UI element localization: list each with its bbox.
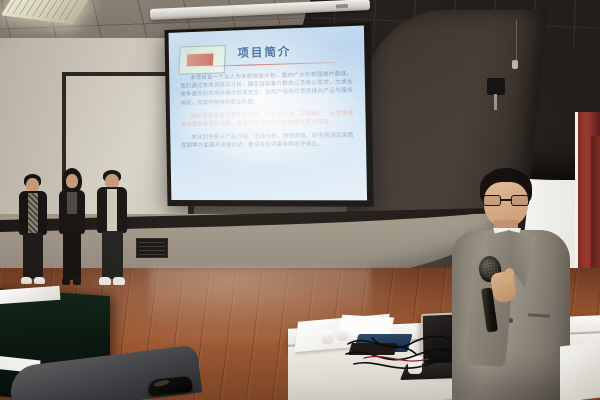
hanging-cord bbox=[516, 20, 517, 62]
paper-cup bbox=[337, 328, 348, 341]
shoe-right bbox=[34, 277, 45, 284]
eyeglasses-icon bbox=[483, 195, 529, 206]
shirt bbox=[107, 189, 117, 231]
lecture-hall-photo: 项目简介 本项目是一个以人为本的创业计划，面向广大的校园用户群体。我们通过市场调… bbox=[0, 0, 600, 400]
shoe-left bbox=[62, 278, 70, 285]
paper-cup bbox=[408, 356, 422, 374]
speaker-presenting bbox=[452, 168, 570, 400]
slide-body-text: 本项目是一个以人为本的创业计划，面向广大的校园用户群体。我们通过市场调研与分析，… bbox=[180, 70, 354, 156]
legs bbox=[63, 232, 81, 280]
screen-border: 项目简介 本项目是一个以人为本的创业计划，面向广大的校园用户群体。我们通过市场调… bbox=[164, 22, 373, 207]
paper-cup bbox=[322, 330, 333, 344]
slide-paragraph-1: 本项目是一个以人为本的创业计划，面向广大的校园用户群体。我们通过市场调研与分析，… bbox=[180, 70, 353, 108]
shoe-right bbox=[113, 277, 125, 285]
legs bbox=[23, 233, 43, 279]
shoe-left bbox=[21, 277, 32, 284]
projection-screen: 项目简介 本项目是一个以人为本的创业计划，面向广大的校园用户群体。我们通过市场调… bbox=[164, 22, 373, 207]
shoe-right bbox=[73, 278, 81, 285]
student-left bbox=[16, 174, 50, 286]
lens-right bbox=[511, 195, 529, 206]
student-center bbox=[55, 168, 89, 288]
lens-left bbox=[483, 195, 501, 206]
glasses-bridge bbox=[501, 199, 511, 201]
projected-slide: 项目简介 本项目是一个以人为本的创业计划，面向广大的校园用户群体。我们通过市场调… bbox=[168, 26, 367, 201]
student-right bbox=[94, 170, 130, 288]
slide-title: 项目简介 bbox=[169, 40, 365, 63]
floor-vent-panel bbox=[136, 238, 168, 258]
shirt bbox=[67, 192, 77, 214]
legs bbox=[102, 231, 123, 279]
cord-knob bbox=[512, 60, 518, 69]
slide-paragraph-3: 本计划书将从产品介绍、市场分析、营销策略、财务预测及风险控制等方面展开详细论述，… bbox=[181, 132, 354, 151]
foreground-furniture bbox=[560, 342, 600, 400]
slide-paragraph-2: 团队成员来自不同专业背景，在技术研发、市场推广、运营管理等方面具有互补优势，能够… bbox=[181, 109, 354, 129]
electronics-base bbox=[348, 343, 397, 355]
shirt bbox=[28, 193, 38, 233]
head bbox=[66, 174, 78, 188]
wall-mounted-bracket bbox=[487, 78, 505, 95]
shoe-left bbox=[99, 277, 111, 285]
